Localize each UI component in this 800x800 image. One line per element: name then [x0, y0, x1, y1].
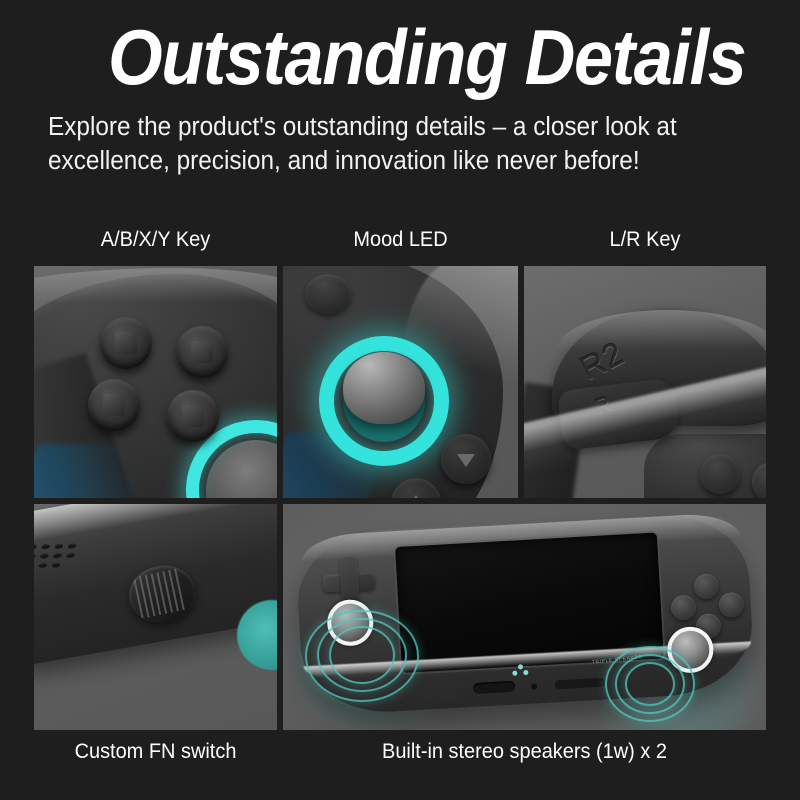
page-title: Outstanding Details [108, 18, 745, 96]
triangle-down-icon [457, 454, 475, 467]
label-stereo-speakers: Built-in stereo speakers (1w) x 2 [295, 740, 754, 764]
button-b [167, 390, 219, 442]
photo-tile-fn-switch [34, 504, 277, 730]
dpad-down-button [441, 434, 491, 484]
sound-wave-left-3 [305, 610, 419, 702]
face-button-left [700, 454, 740, 494]
select-button [305, 274, 351, 314]
triangle-up-icon [407, 495, 425, 498]
button-x [100, 317, 152, 369]
photo-tile-mood-led [283, 266, 518, 498]
photo-tile-stereo-speakers: TRIPLE SPEAKER [283, 504, 766, 730]
gallery-bottom-label-row: Custom FN switch Built-in stereo speaker… [34, 740, 766, 772]
page-subtitle: Explore the product's outstanding detail… [48, 110, 728, 178]
button-y [176, 326, 228, 378]
label-lr-key: L/R Key [530, 228, 760, 252]
sound-wave-right-3 [605, 646, 695, 722]
photo-tile-abxy-key [34, 266, 277, 498]
front-port [473, 681, 516, 694]
detail-photo-grid: R2 R [34, 266, 766, 730]
label-mood-led: Mood LED [289, 228, 512, 252]
photo-tile-lr-key: R2 R [524, 266, 766, 498]
button-a [88, 379, 140, 431]
console-edge-highlight [34, 268, 277, 302]
led-dots [512, 664, 529, 677]
gallery-top-label-row: A/B/X/Y Key Mood LED L/R Key [34, 228, 766, 262]
label-abxy-key: A/B/X/Y Key [40, 228, 271, 252]
thumbstick-cap [343, 352, 425, 424]
label-custom-fn-switch: Custom FN switch [40, 740, 271, 764]
